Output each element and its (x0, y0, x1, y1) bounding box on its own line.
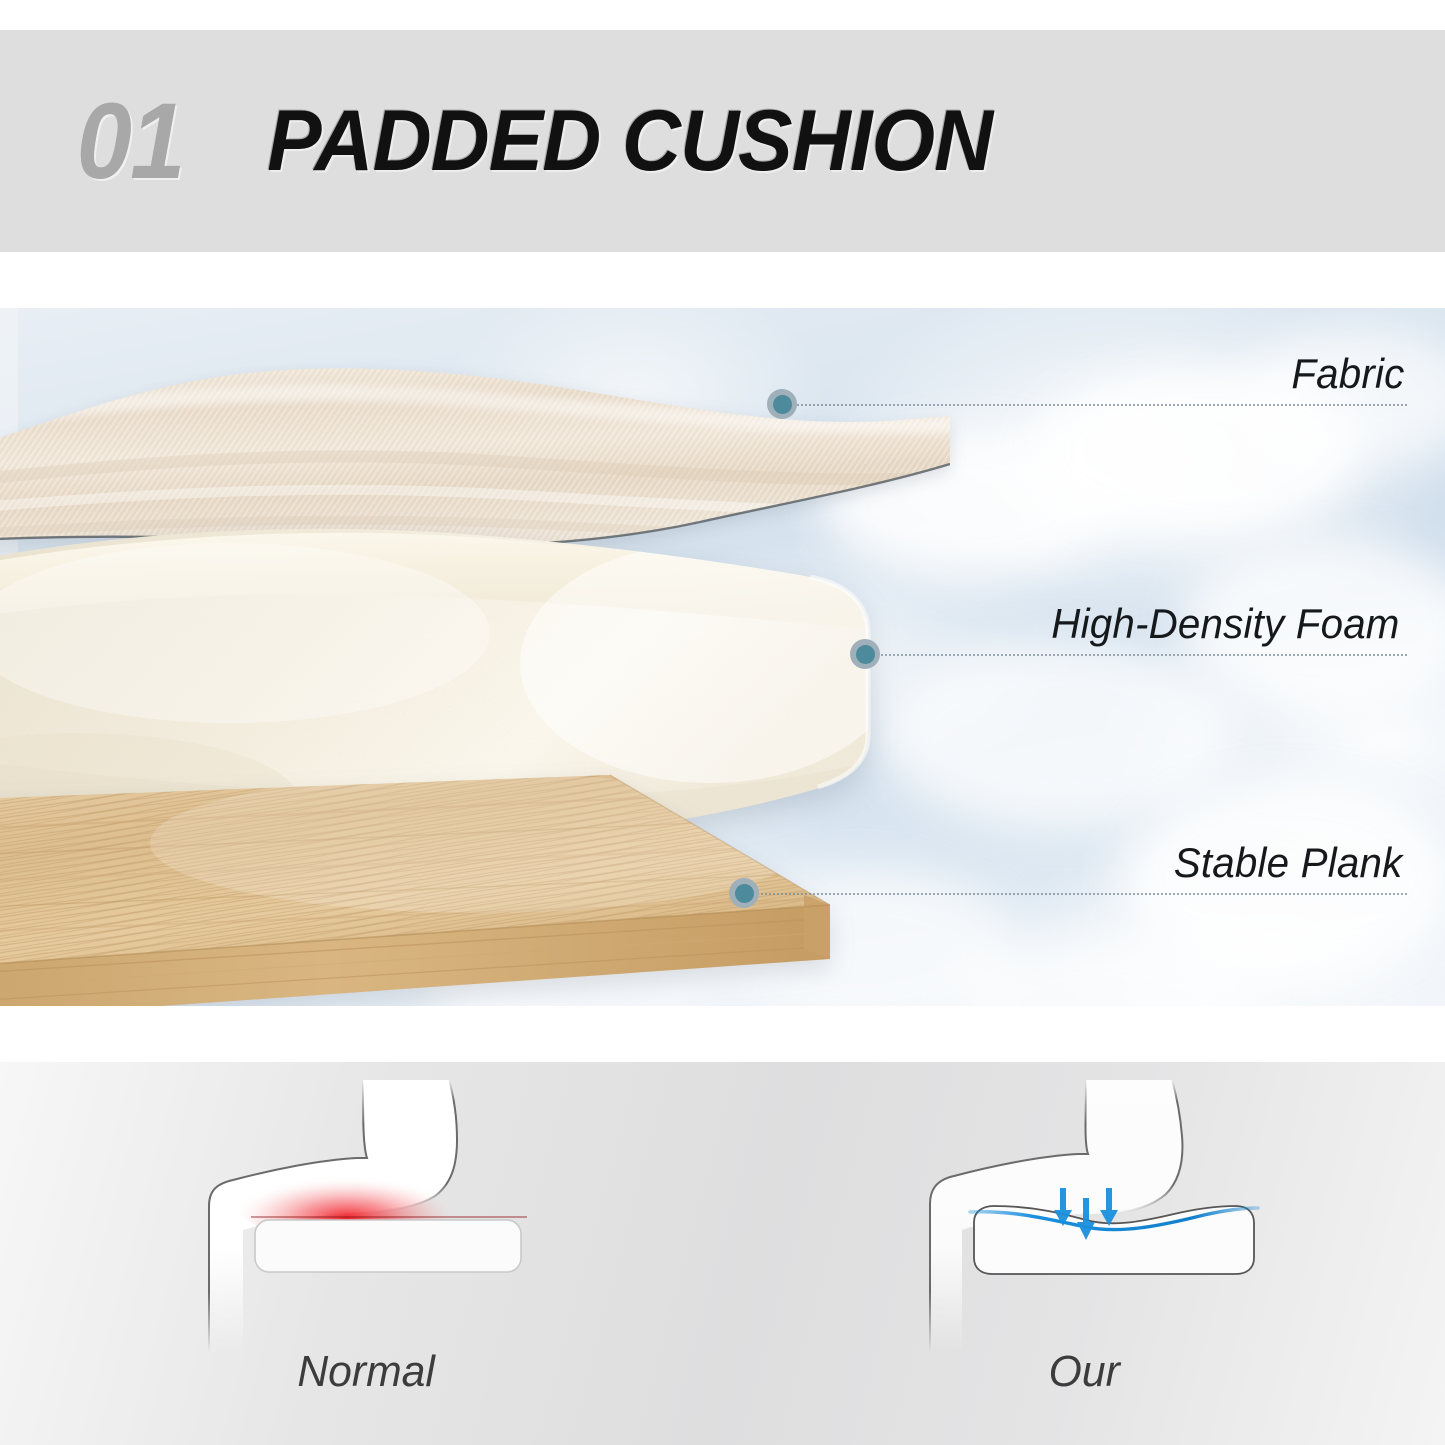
normal-figure (151, 1080, 571, 1375)
comparison-section: Normal (0, 1062, 1445, 1445)
callout-marker-icon (850, 639, 880, 669)
callout-label-plank: Stable Plank (1174, 839, 1403, 887)
callout-marker-icon (729, 878, 759, 908)
leader-line (865, 654, 1407, 656)
header-band: 01 PADDED CUSHION (0, 30, 1445, 252)
section-number: 01 (77, 87, 184, 195)
our-figure (874, 1080, 1294, 1375)
callout-label-foam: High-Density Foam (1051, 600, 1399, 648)
exploded-view-panel: Fabric High-Density Foam Stable Plank (0, 308, 1445, 1006)
page-title: PADDED CUSHION (267, 98, 992, 184)
callout-label-fabric: Fabric (1291, 350, 1404, 398)
layer-plank (0, 773, 930, 1006)
comparison-normal: Normal (0, 1062, 723, 1445)
leader-line (744, 893, 1407, 895)
comparison-caption-normal: Normal (11, 1347, 712, 1397)
leader-line (782, 404, 1407, 406)
comparison-caption-our: Our (733, 1347, 1434, 1397)
callout-marker-icon (767, 389, 797, 419)
infographic-page: 01 PADDED CUSHION (0, 0, 1445, 1445)
comparison-our: Our (723, 1062, 1445, 1445)
